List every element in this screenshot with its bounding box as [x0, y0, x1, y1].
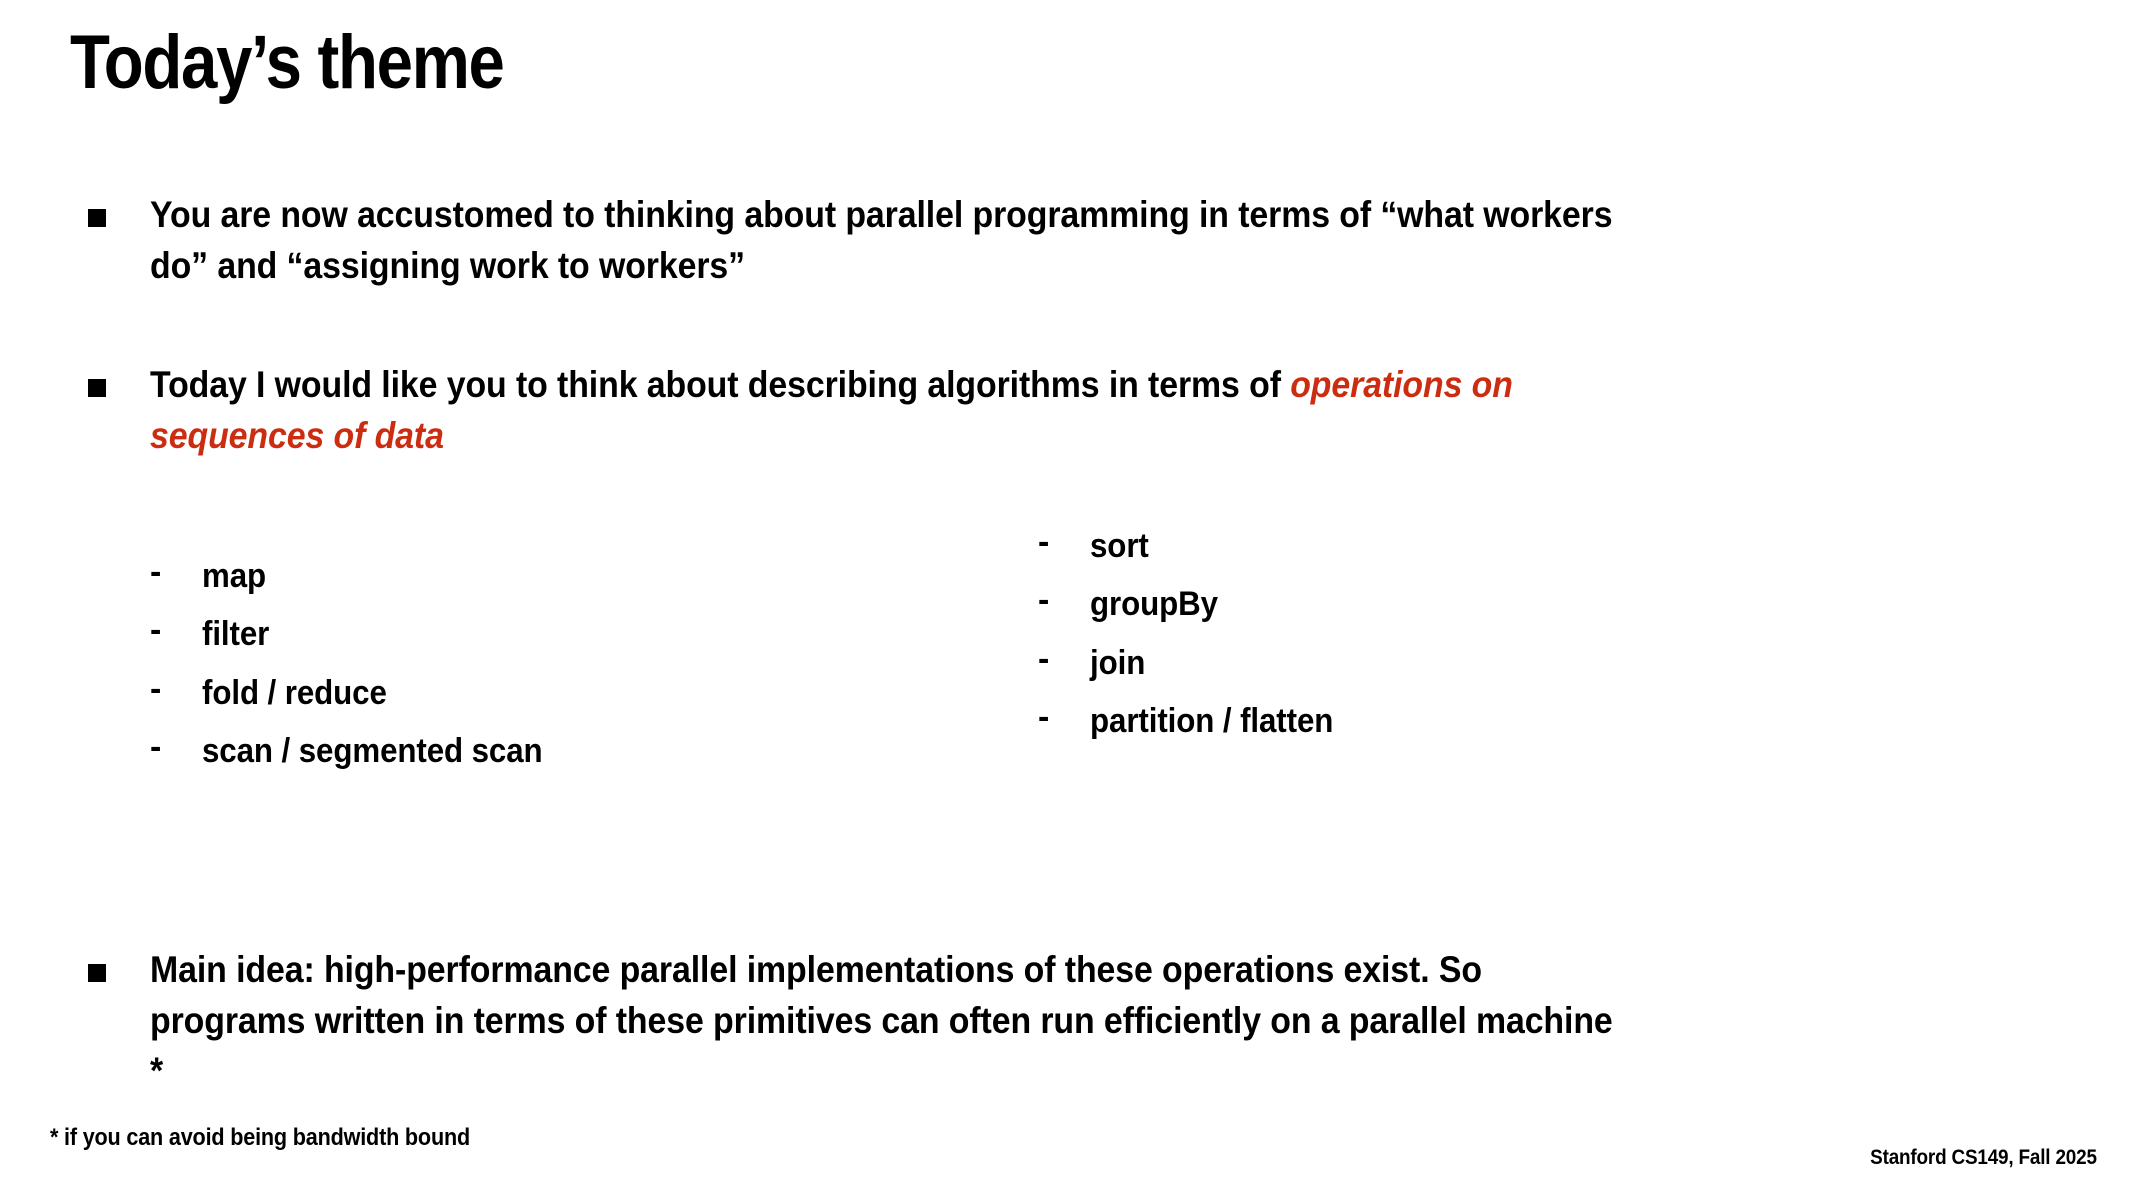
- square-bullet-icon: [88, 379, 106, 397]
- list-item: - map: [150, 558, 572, 595]
- page-title: Today’s theme: [70, 22, 504, 104]
- list-item-label: filter: [202, 616, 269, 653]
- dash-bullet-icon: -: [150, 730, 202, 764]
- dash-bullet-icon: -: [1038, 642, 1090, 676]
- list-item-label: groupBy: [1090, 586, 1218, 623]
- dash-bullet-icon: -: [1038, 700, 1090, 734]
- list-item: - scan / segmented scan: [150, 733, 572, 770]
- square-bullet-icon: [88, 964, 106, 982]
- list-item-label: fold / reduce: [202, 675, 387, 712]
- slide-canvas: Today’s theme You are now accustomed to …: [0, 0, 2133, 1200]
- operations-list-left: - map - filter - fold / reduce - scan / …: [150, 558, 572, 792]
- list-item-label: partition / flatten: [1090, 703, 1333, 740]
- bullet-text-3: Main idea: high-performance parallel imp…: [150, 945, 1614, 1097]
- list-item-label: map: [202, 558, 266, 595]
- list-item: - join: [1038, 645, 1354, 682]
- dash-bullet-icon: -: [150, 613, 202, 647]
- bullet-text-2-lead: Today I would like you to think about de…: [150, 364, 1290, 405]
- dash-bullet-icon: -: [1038, 583, 1090, 617]
- dash-bullet-icon: -: [150, 672, 202, 706]
- footer-credit: Stanford CS149, Fall 2025: [1870, 1146, 2097, 1170]
- list-item-label: scan / segmented scan: [202, 733, 543, 770]
- operations-list-right: - sort - groupBy - join - partition / fl…: [1038, 528, 1354, 762]
- bullet-text-1: You are now accustomed to thinking about…: [150, 190, 1651, 291]
- list-item: - fold / reduce: [150, 675, 572, 712]
- bullet-item-2: Today I would like you to think about de…: [88, 360, 2088, 461]
- bullet-item-1: You are now accustomed to thinking about…: [88, 190, 2088, 291]
- list-item: - groupBy: [1038, 586, 1354, 623]
- list-item: - filter: [150, 616, 572, 653]
- list-item-label: join: [1090, 645, 1145, 682]
- bullet-item-3: Main idea: high-performance parallel imp…: [88, 945, 2088, 1097]
- list-item: - partition / flatten: [1038, 703, 1354, 740]
- dash-bullet-icon: -: [1038, 525, 1090, 559]
- bullet-text-2: Today I would like you to think about de…: [150, 360, 1577, 461]
- bullet-text-1-lead: You are now accustomed to thinking about…: [150, 194, 1612, 286]
- bullet-text-3-lead: Main idea: high-performance parallel imp…: [150, 949, 1613, 1091]
- footnote: * if you can avoid being bandwidth bound: [50, 1124, 470, 1152]
- list-item-label: sort: [1090, 528, 1149, 565]
- list-item: - sort: [1038, 528, 1354, 565]
- square-bullet-icon: [88, 209, 106, 227]
- dash-bullet-icon: -: [150, 555, 202, 589]
